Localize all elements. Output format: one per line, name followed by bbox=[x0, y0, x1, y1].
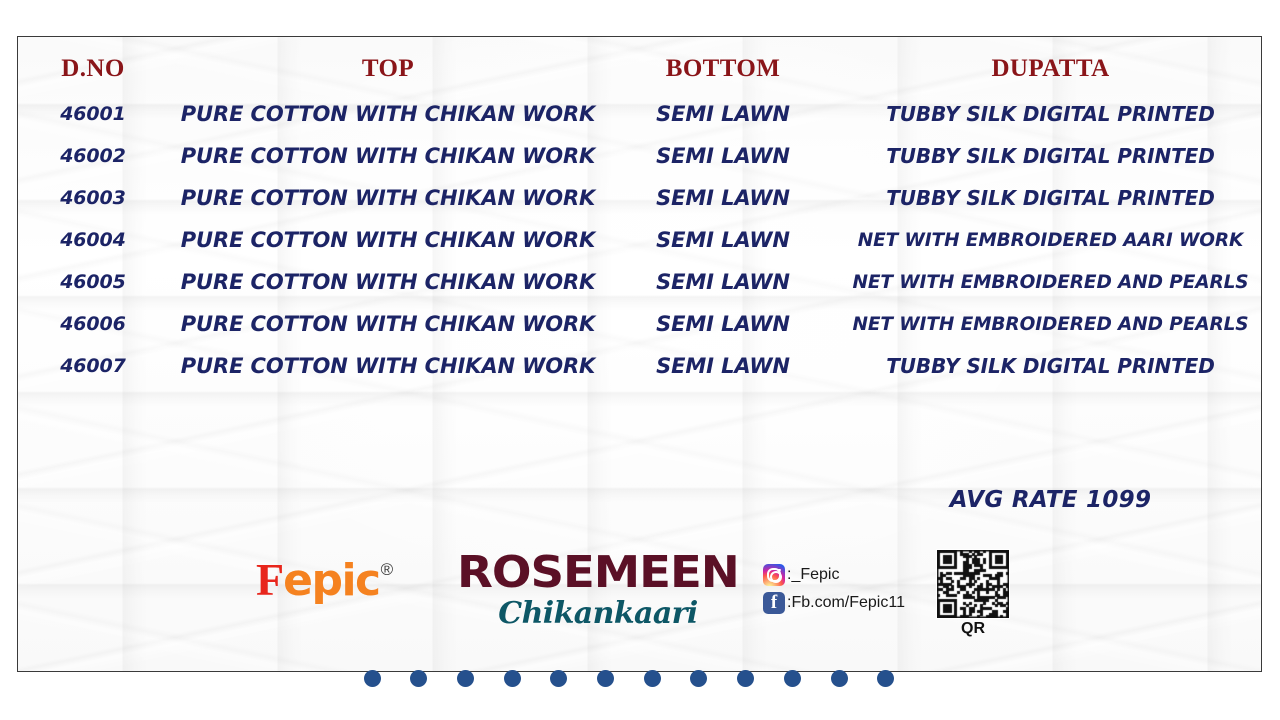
cell-bottom: SEMI LAWN bbox=[608, 177, 838, 219]
instagram-handle: :_Fepic bbox=[787, 566, 839, 584]
column-header-dupatta: DUPATTA bbox=[838, 37, 1262, 93]
catalog-slide: D.NO TOP BOTTOM DUPATTA 46001 PURE COTTO… bbox=[0, 0, 1280, 720]
cell-dupatta: TUBBY SILK DIGITAL PRINTED bbox=[838, 177, 1262, 219]
bottom-dot bbox=[597, 670, 614, 687]
qr-code-caption: QR bbox=[933, 620, 1013, 638]
bottom-dot bbox=[457, 670, 474, 687]
header-row: D.NO TOP BOTTOM DUPATTA bbox=[18, 37, 1262, 93]
cell-bottom: SEMI LAWN bbox=[608, 345, 838, 387]
bottom-dot bbox=[831, 670, 848, 687]
instagram-link[interactable]: :_Fepic bbox=[763, 564, 905, 586]
cell-top: PURE COTTON WITH CHIKAN WORK bbox=[168, 219, 608, 261]
qr-block: QR bbox=[933, 549, 1013, 638]
table-row: 46001 PURE COTTON WITH CHIKAN WORK SEMI … bbox=[18, 93, 1262, 135]
bottom-dot bbox=[364, 670, 381, 687]
qr-code-image[interactable] bbox=[936, 549, 1010, 619]
cell-dupatta: TUBBY SILK DIGITAL PRINTED bbox=[838, 345, 1262, 387]
rosemeen-logo-text: ROSEMEEN bbox=[457, 551, 739, 596]
facebook-handle: :Fb.com/Fepic11 bbox=[787, 594, 905, 612]
column-header-dno: D.NO bbox=[18, 37, 168, 93]
table-row: 46002 PURE COTTON WITH CHIKAN WORK SEMI … bbox=[18, 135, 1262, 177]
column-header-bottom: BOTTOM bbox=[608, 37, 838, 93]
cell-top: PURE COTTON WITH CHIKAN WORK bbox=[168, 177, 608, 219]
rosemeen-logo-tagline: Chikankaari bbox=[448, 597, 748, 630]
facebook-link[interactable]: f :Fb.com/Fepic11 bbox=[763, 592, 905, 614]
facebook-icon: f bbox=[763, 592, 785, 614]
cell-dno: 46007 bbox=[18, 345, 168, 387]
cell-top: PURE COTTON WITH CHIKAN WORK bbox=[168, 261, 608, 303]
cell-bottom: SEMI LAWN bbox=[608, 303, 838, 345]
cell-bottom: SEMI LAWN bbox=[608, 135, 838, 177]
cell-dupatta: NET WITH EMBROIDERED AND PEARLS bbox=[838, 303, 1262, 345]
fepic-logo-text: epic bbox=[283, 555, 380, 606]
spec-table-container: D.NO TOP BOTTOM DUPATTA 46001 PURE COTTO… bbox=[18, 37, 1261, 387]
cell-dupatta: NET WITH EMBROIDERED AARI WORK bbox=[838, 219, 1262, 261]
registered-trademark-icon: ® bbox=[381, 560, 394, 579]
fepic-logo: Fepic® bbox=[256, 557, 392, 603]
cell-dupatta: NET WITH EMBROIDERED AND PEARLS bbox=[838, 261, 1262, 303]
social-links: :_Fepic f :Fb.com/Fepic11 bbox=[763, 564, 905, 614]
cell-bottom: SEMI LAWN bbox=[608, 261, 838, 303]
bottom-dot bbox=[737, 670, 754, 687]
cell-top: PURE COTTON WITH CHIKAN WORK bbox=[168, 303, 608, 345]
spec-table-head: D.NO TOP BOTTOM DUPATTA bbox=[18, 37, 1262, 93]
spec-table-body: 46001 PURE COTTON WITH CHIKAN WORK SEMI … bbox=[18, 93, 1262, 387]
branding-row: Fepic® ROSEMEEN Chikankaari :_Fepic bbox=[18, 529, 1262, 649]
bottom-dot bbox=[690, 670, 707, 687]
cell-bottom: SEMI LAWN bbox=[608, 93, 838, 135]
cell-dno: 46006 bbox=[18, 303, 168, 345]
table-row: 46007 PURE COTTON WITH CHIKAN WORK SEMI … bbox=[18, 345, 1262, 387]
table-row: 46004 PURE COTTON WITH CHIKAN WORK SEMI … bbox=[18, 219, 1262, 261]
fepic-logo-initial: F bbox=[256, 554, 283, 605]
cell-dno: 46003 bbox=[18, 177, 168, 219]
cell-dno: 46004 bbox=[18, 219, 168, 261]
bottom-dot bbox=[504, 670, 521, 687]
bottom-dot bbox=[550, 670, 567, 687]
catalog-panel: D.NO TOP BOTTOM DUPATTA 46001 PURE COTTO… bbox=[17, 36, 1262, 672]
cell-top: PURE COTTON WITH CHIKAN WORK bbox=[168, 135, 608, 177]
instagram-icon bbox=[763, 564, 785, 586]
cell-dno: 46001 bbox=[18, 93, 168, 135]
bottom-dot bbox=[784, 670, 801, 687]
cell-top: PURE COTTON WITH CHIKAN WORK bbox=[168, 345, 608, 387]
rosemeen-logo: ROSEMEEN Chikankaari bbox=[448, 551, 748, 630]
bottom-dot bbox=[410, 670, 427, 687]
cell-top: PURE COTTON WITH CHIKAN WORK bbox=[168, 93, 608, 135]
spec-table: D.NO TOP BOTTOM DUPATTA 46001 PURE COTTO… bbox=[18, 37, 1262, 387]
bottom-dot bbox=[644, 670, 661, 687]
cell-dupatta: TUBBY SILK DIGITAL PRINTED bbox=[838, 135, 1262, 177]
table-row: 46006 PURE COTTON WITH CHIKAN WORK SEMI … bbox=[18, 303, 1262, 345]
column-header-top: TOP bbox=[168, 37, 608, 93]
cell-bottom: SEMI LAWN bbox=[608, 219, 838, 261]
cell-dno: 46002 bbox=[18, 135, 168, 177]
bottom-dot-strip bbox=[0, 670, 1280, 694]
avg-rate-label: AVG RATE 1099 bbox=[838, 487, 1262, 513]
cell-dupatta: TUBBY SILK DIGITAL PRINTED bbox=[838, 93, 1262, 135]
cell-dno: 46005 bbox=[18, 261, 168, 303]
table-row: 46003 PURE COTTON WITH CHIKAN WORK SEMI … bbox=[18, 177, 1262, 219]
bottom-dot bbox=[877, 670, 894, 687]
table-row: 46005 PURE COTTON WITH CHIKAN WORK SEMI … bbox=[18, 261, 1262, 303]
